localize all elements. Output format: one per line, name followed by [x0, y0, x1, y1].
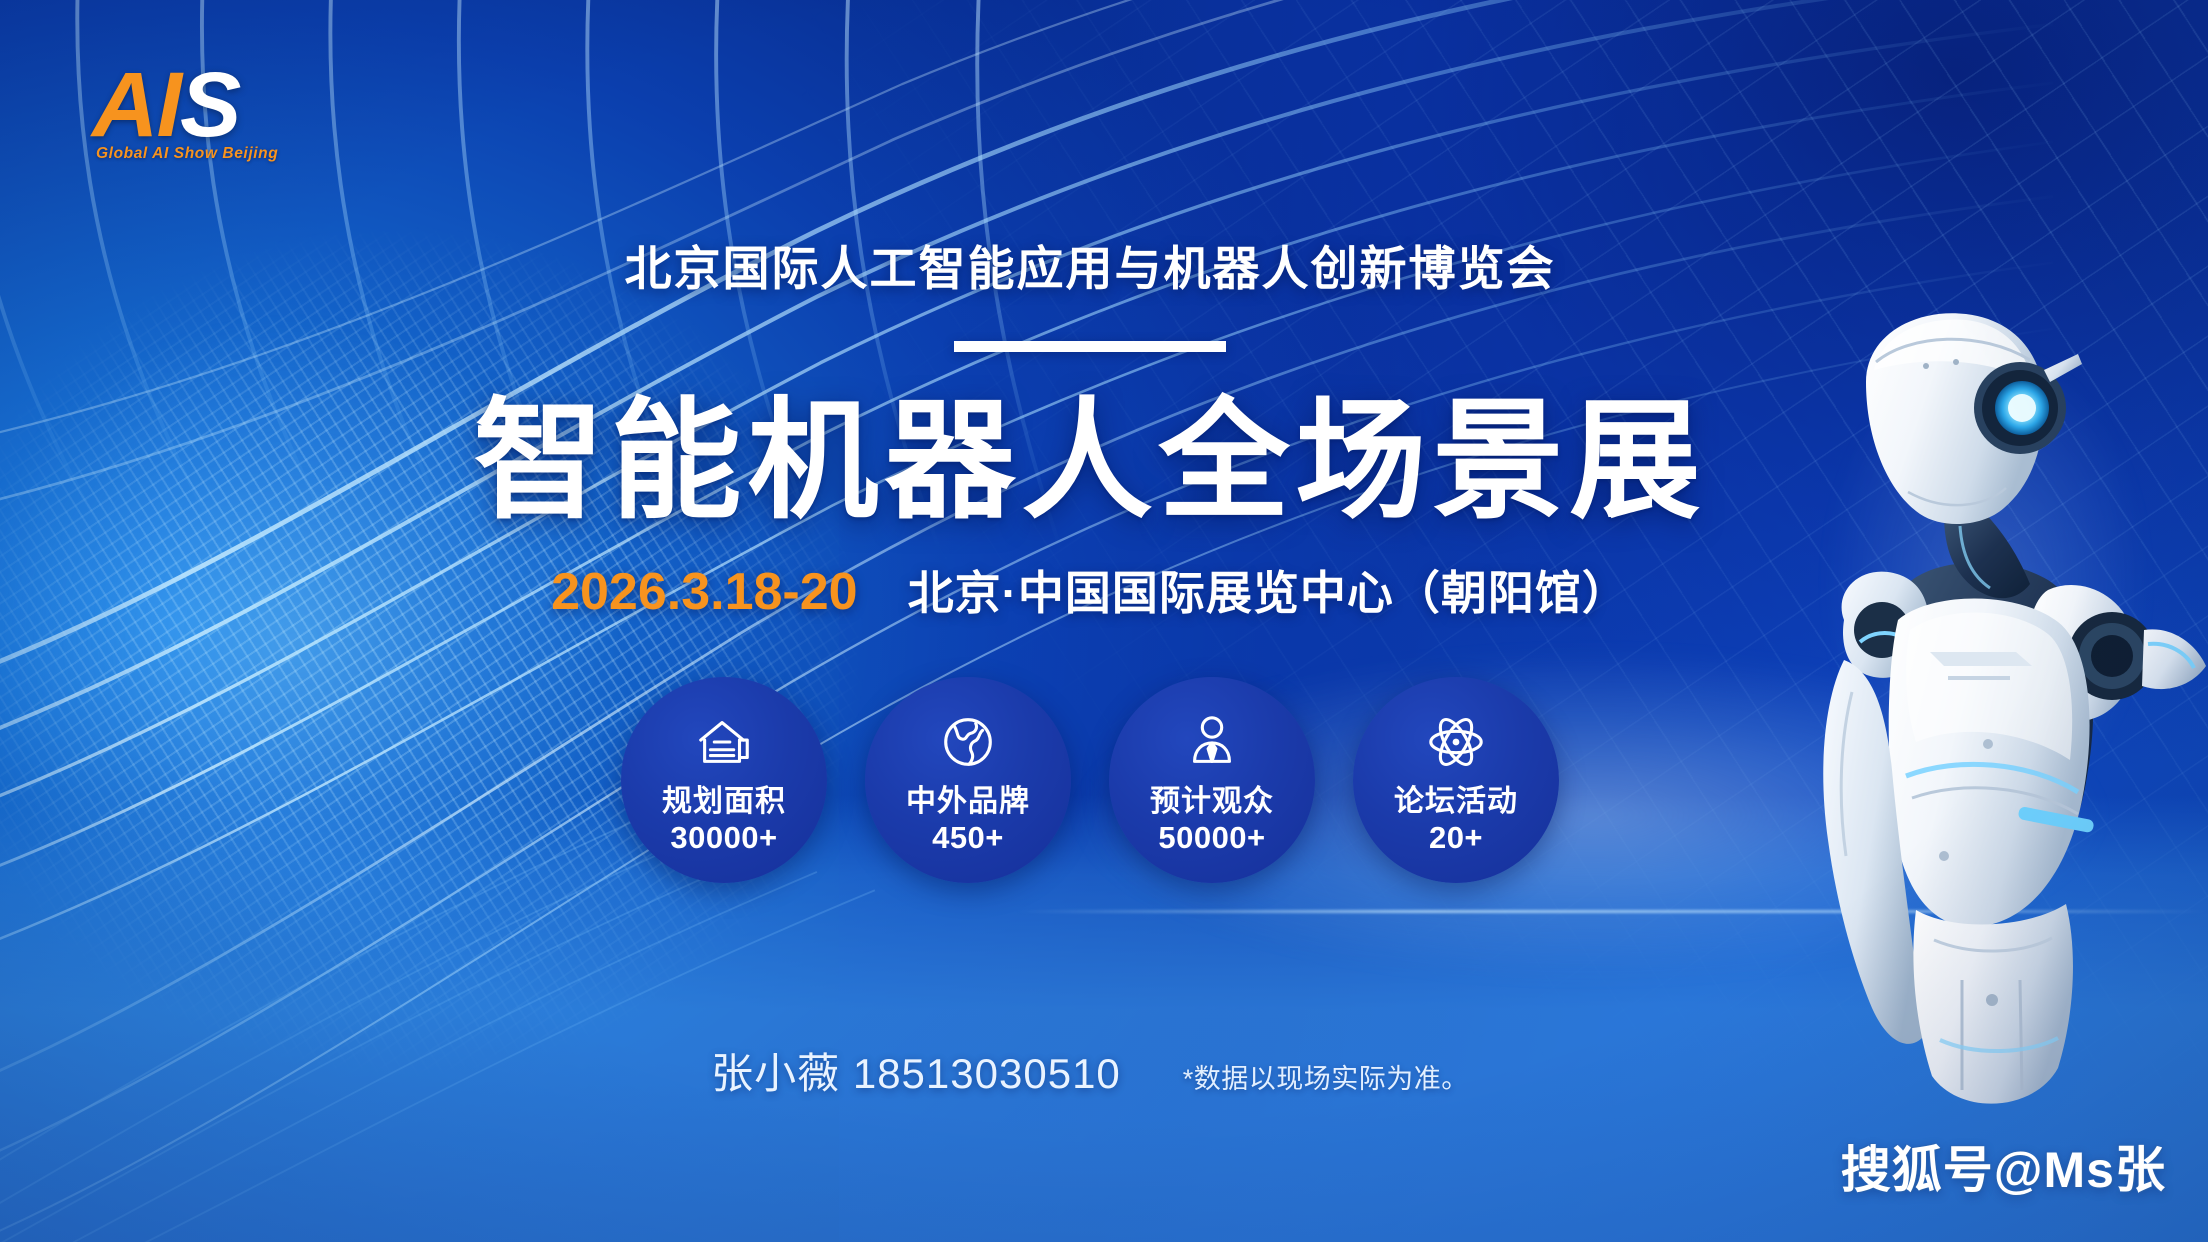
- footer-row: 张小薇 18513030510 *数据以现场实际为准。: [430, 1040, 1750, 1101]
- stat-value: 20+: [1429, 820, 1483, 857]
- stats-badge-group: 规划面积 30000+ 中外品牌 450+: [430, 677, 1750, 883]
- atom-icon: [1425, 711, 1487, 773]
- event-meta: 2026.3.18-20 北京·中国国际展览中心（朝阳馆）: [430, 557, 1750, 623]
- logo-ai-text: AI: [92, 54, 180, 156]
- stat-badge-visitors[interactable]: 预计观众 50000+: [1109, 677, 1315, 883]
- stat-badge-area[interactable]: 规划面积 30000+: [621, 677, 827, 883]
- ais-logo[interactable]: AIS Global AI Show Beijing: [92, 62, 392, 163]
- event-date: 2026.3.18-20: [551, 562, 858, 622]
- event-subtitle: 北京国际人工智能应用与机器人创新博览会: [430, 230, 1750, 299]
- exhibition-hall-icon: [693, 711, 755, 773]
- contact-info: 张小薇 18513030510: [711, 1040, 1121, 1101]
- logo-wordmark: AIS: [92, 62, 392, 149]
- stat-label: 预计观众: [1150, 785, 1274, 820]
- expo-promo-banner: AIS Global AI Show Beijing 北京国际人工智能应用与机器…: [0, 0, 2208, 1242]
- logo-s-text: S: [180, 54, 239, 156]
- stat-label: 规划面积: [662, 785, 786, 820]
- stat-value: 30000+: [670, 820, 777, 857]
- logo-tagline: Global AI Show Beijing: [96, 145, 392, 163]
- globe-icon: [937, 711, 999, 773]
- stat-label: 中外品牌: [906, 785, 1030, 820]
- event-headline: 智能机器人全场景展: [430, 390, 1750, 531]
- event-venue: 北京·中国国际展览中心（朝阳馆）: [908, 557, 1629, 623]
- visitor-person-icon: [1181, 711, 1243, 773]
- stat-value: 450+: [932, 820, 1004, 857]
- stat-label: 论坛活动: [1394, 785, 1518, 820]
- data-disclaimer: *数据以现场实际为准。: [1183, 1057, 1469, 1096]
- title-divider: [954, 341, 1226, 352]
- sohu-watermark: 搜狐号@Ms张: [1841, 1130, 2166, 1202]
- stat-value: 50000+: [1158, 820, 1265, 857]
- stat-badge-brands[interactable]: 中外品牌 450+: [865, 677, 1071, 883]
- stat-badge-forums[interactable]: 论坛活动 20+: [1353, 677, 1559, 883]
- hero-content: 北京国际人工智能应用与机器人创新博览会 智能机器人全场景展 2026.3.18-…: [430, 230, 1750, 883]
